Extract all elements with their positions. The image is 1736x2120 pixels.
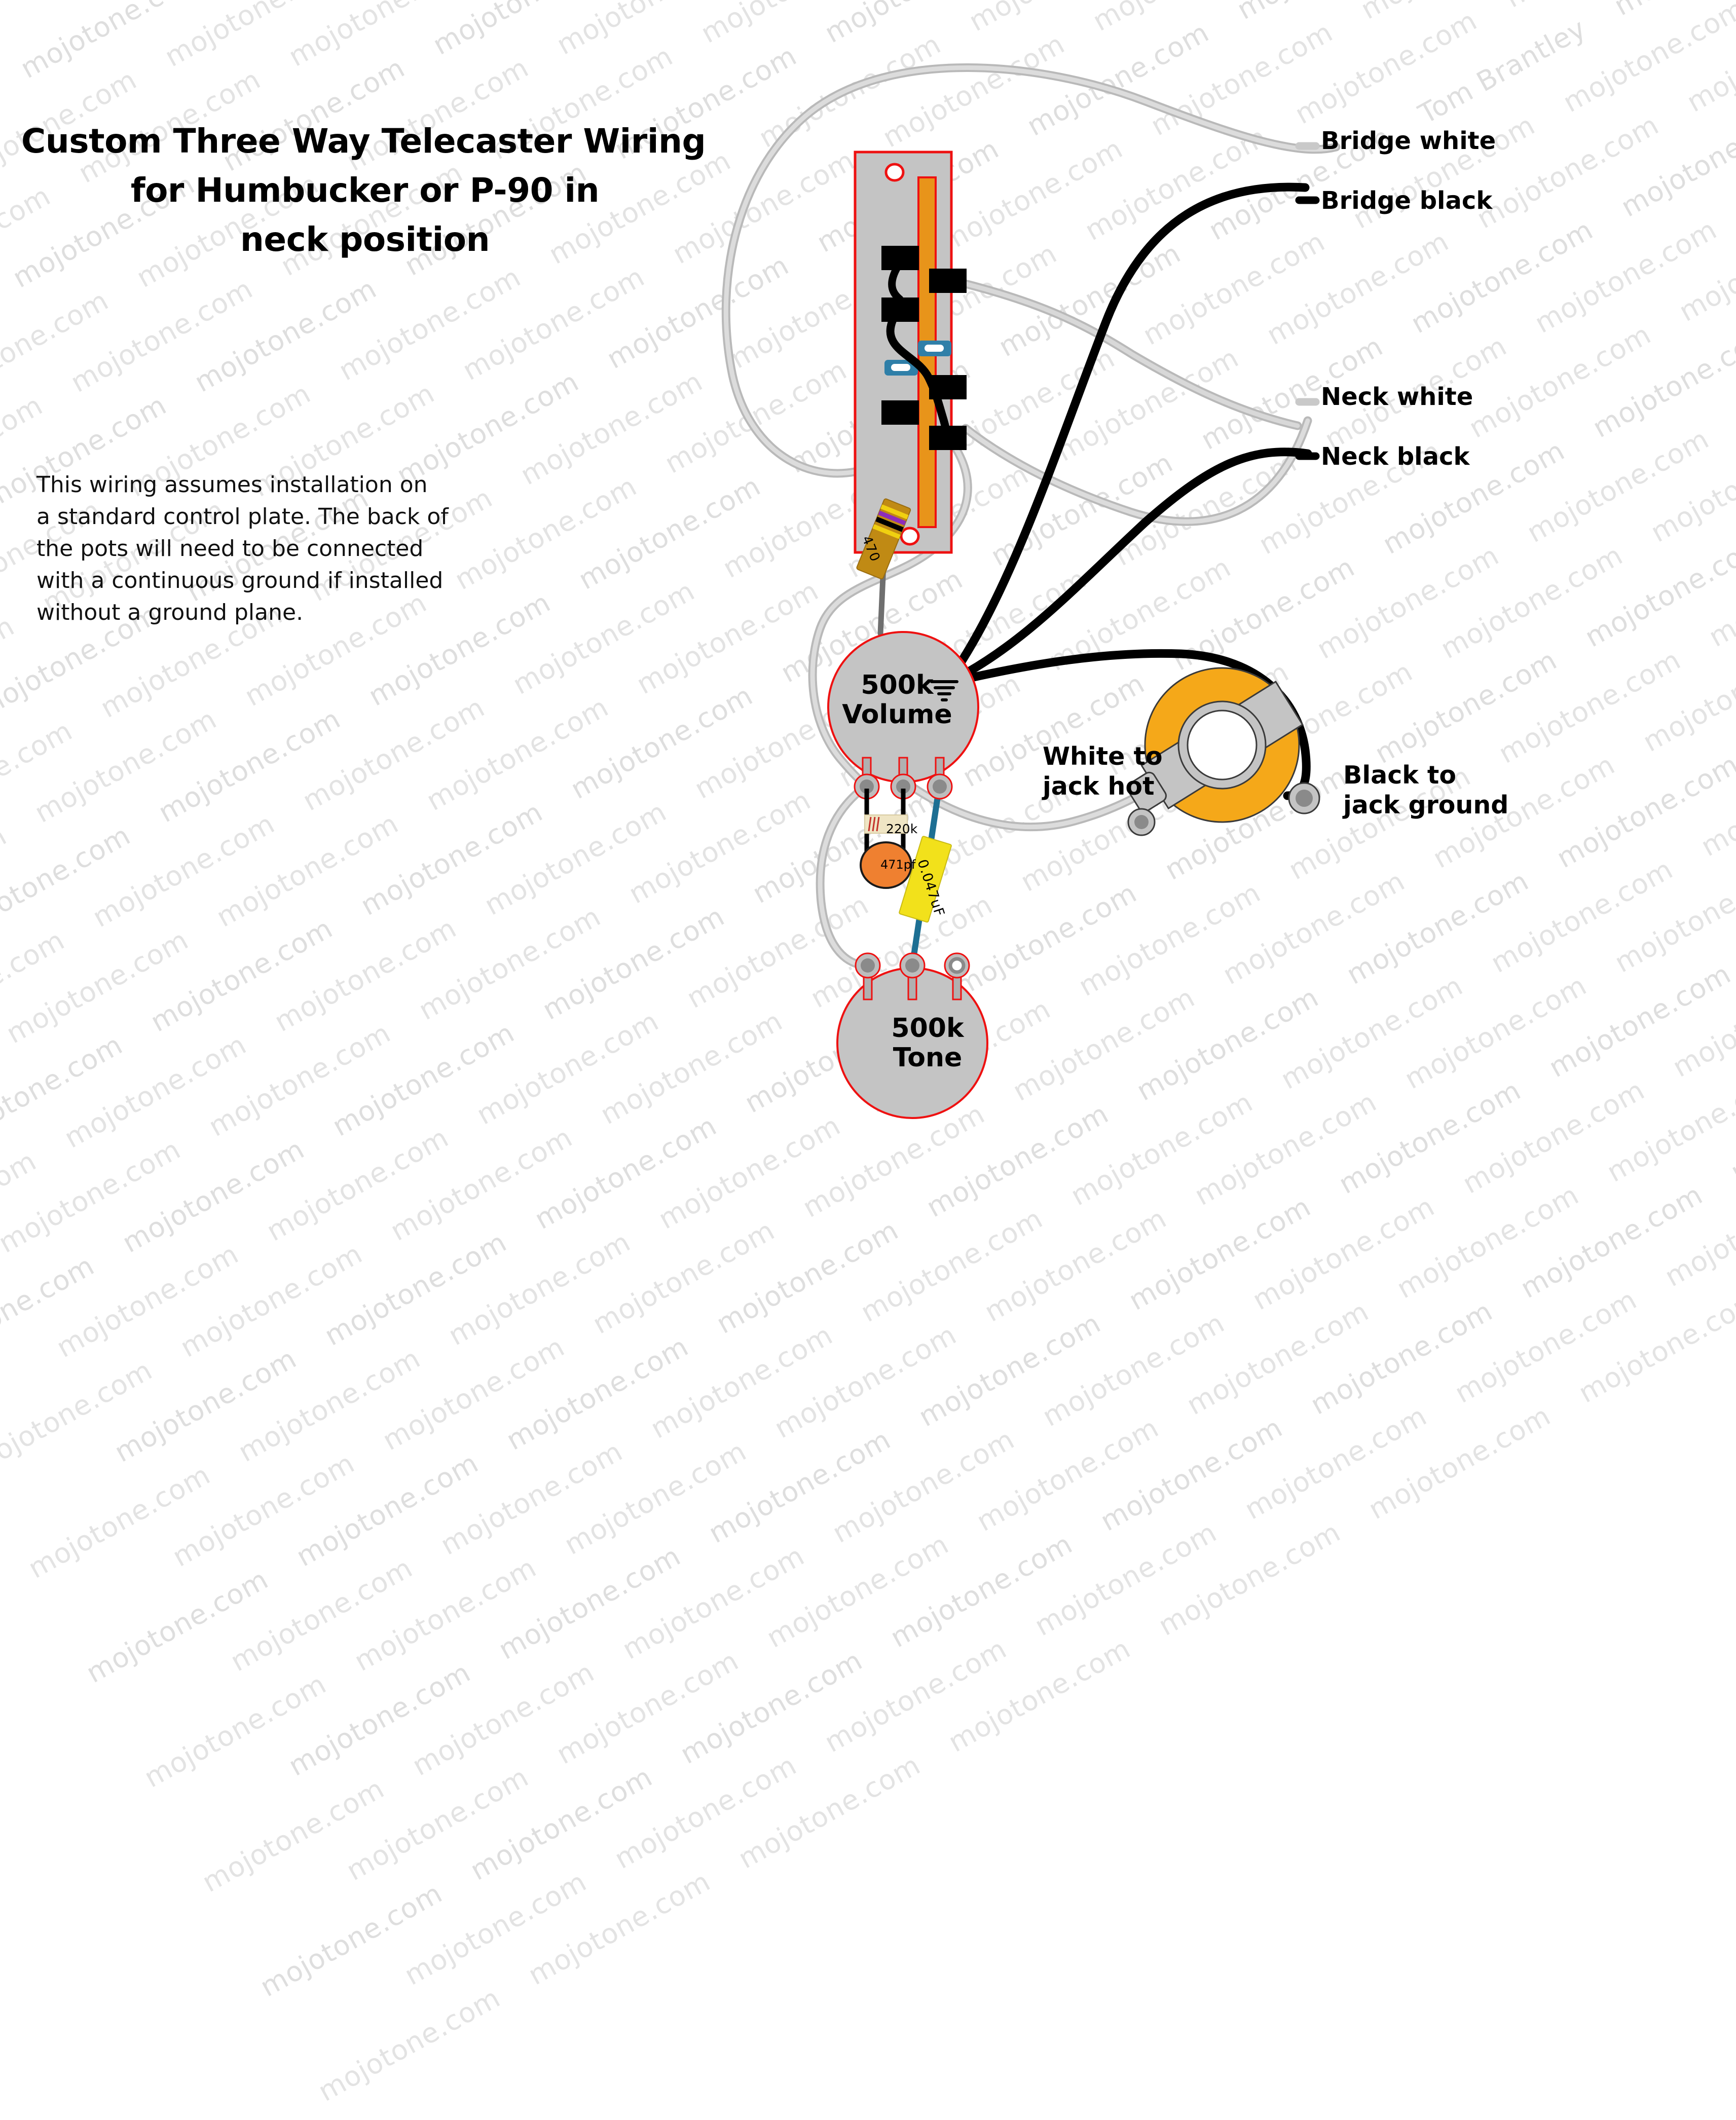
label-white-to-jack-hot: White to jack hot bbox=[1043, 741, 1163, 801]
note-line-5: without a ground plane. bbox=[36, 597, 523, 628]
volume-pot-value: 500k bbox=[831, 671, 963, 700]
three-way-switch-assembly bbox=[855, 152, 967, 552]
switch-mount-tab-upper bbox=[918, 341, 951, 356]
label-cap-471pf: 471pf bbox=[880, 858, 916, 872]
tone-lug-1 bbox=[856, 953, 880, 978]
wire-bridge-black bbox=[947, 187, 1305, 683]
white-hot-line-1: White to bbox=[1043, 741, 1163, 771]
wire-volume-to-tone-jumper bbox=[820, 786, 868, 965]
label-neck-black: Neck black bbox=[1321, 442, 1469, 471]
note-line-1: This wiring assumes installation on bbox=[36, 469, 523, 501]
volume-pot-name: Volume bbox=[831, 700, 963, 729]
label-volume-pot: 500k Volume bbox=[831, 671, 963, 729]
label-bridge-white: Bridge white bbox=[1321, 127, 1496, 155]
tone-pot-name: Tone bbox=[862, 1043, 993, 1072]
title-line-1: Custom Three Way Telecaster Wiring bbox=[20, 117, 710, 166]
wire-neck-white bbox=[966, 421, 1308, 522]
label-black-to-jack-ground: Black to jack ground bbox=[1343, 760, 1508, 820]
installation-note: This wiring assumes installation on a st… bbox=[36, 469, 523, 628]
title-line-3: neck position bbox=[20, 215, 710, 264]
switch-lug-2 bbox=[929, 269, 967, 293]
label-bridge-black: Bridge black bbox=[1321, 187, 1492, 215]
switch-lug-5 bbox=[881, 400, 919, 425]
white-hot-line-2: jack hot bbox=[1043, 771, 1163, 801]
tone-lug-2 bbox=[900, 953, 925, 978]
jack-ground-lug bbox=[1289, 783, 1319, 813]
jack-tip-lug-hole bbox=[1128, 809, 1155, 835]
label-resistor-220k: 220k bbox=[886, 822, 917, 836]
page-title: Custom Three Way Telecaster Wiring for H… bbox=[20, 117, 710, 264]
label-tone-pot: 500k Tone bbox=[862, 1014, 993, 1072]
title-line-2: for Humbucker or P-90 in bbox=[20, 166, 710, 215]
note-line-3: the pots will need to be connected bbox=[36, 533, 523, 565]
black-ground-line-1: Black to bbox=[1343, 760, 1508, 790]
treble-bleed-network bbox=[861, 789, 911, 888]
volume-lug-3 bbox=[928, 774, 952, 799]
wire-neck-black bbox=[947, 452, 1308, 683]
label-stub-lines bbox=[1299, 146, 1316, 456]
note-line-2: a standard control plate. The back of bbox=[36, 501, 523, 533]
label-neck-white: Neck white bbox=[1321, 383, 1473, 411]
tone-pot-value: 500k bbox=[862, 1014, 993, 1043]
black-ground-line-2: jack ground bbox=[1343, 790, 1508, 820]
tone-lug-3 bbox=[945, 953, 969, 978]
wire-bridge-white bbox=[966, 284, 1298, 426]
note-line-4: with a continuous ground if installed bbox=[36, 565, 523, 597]
